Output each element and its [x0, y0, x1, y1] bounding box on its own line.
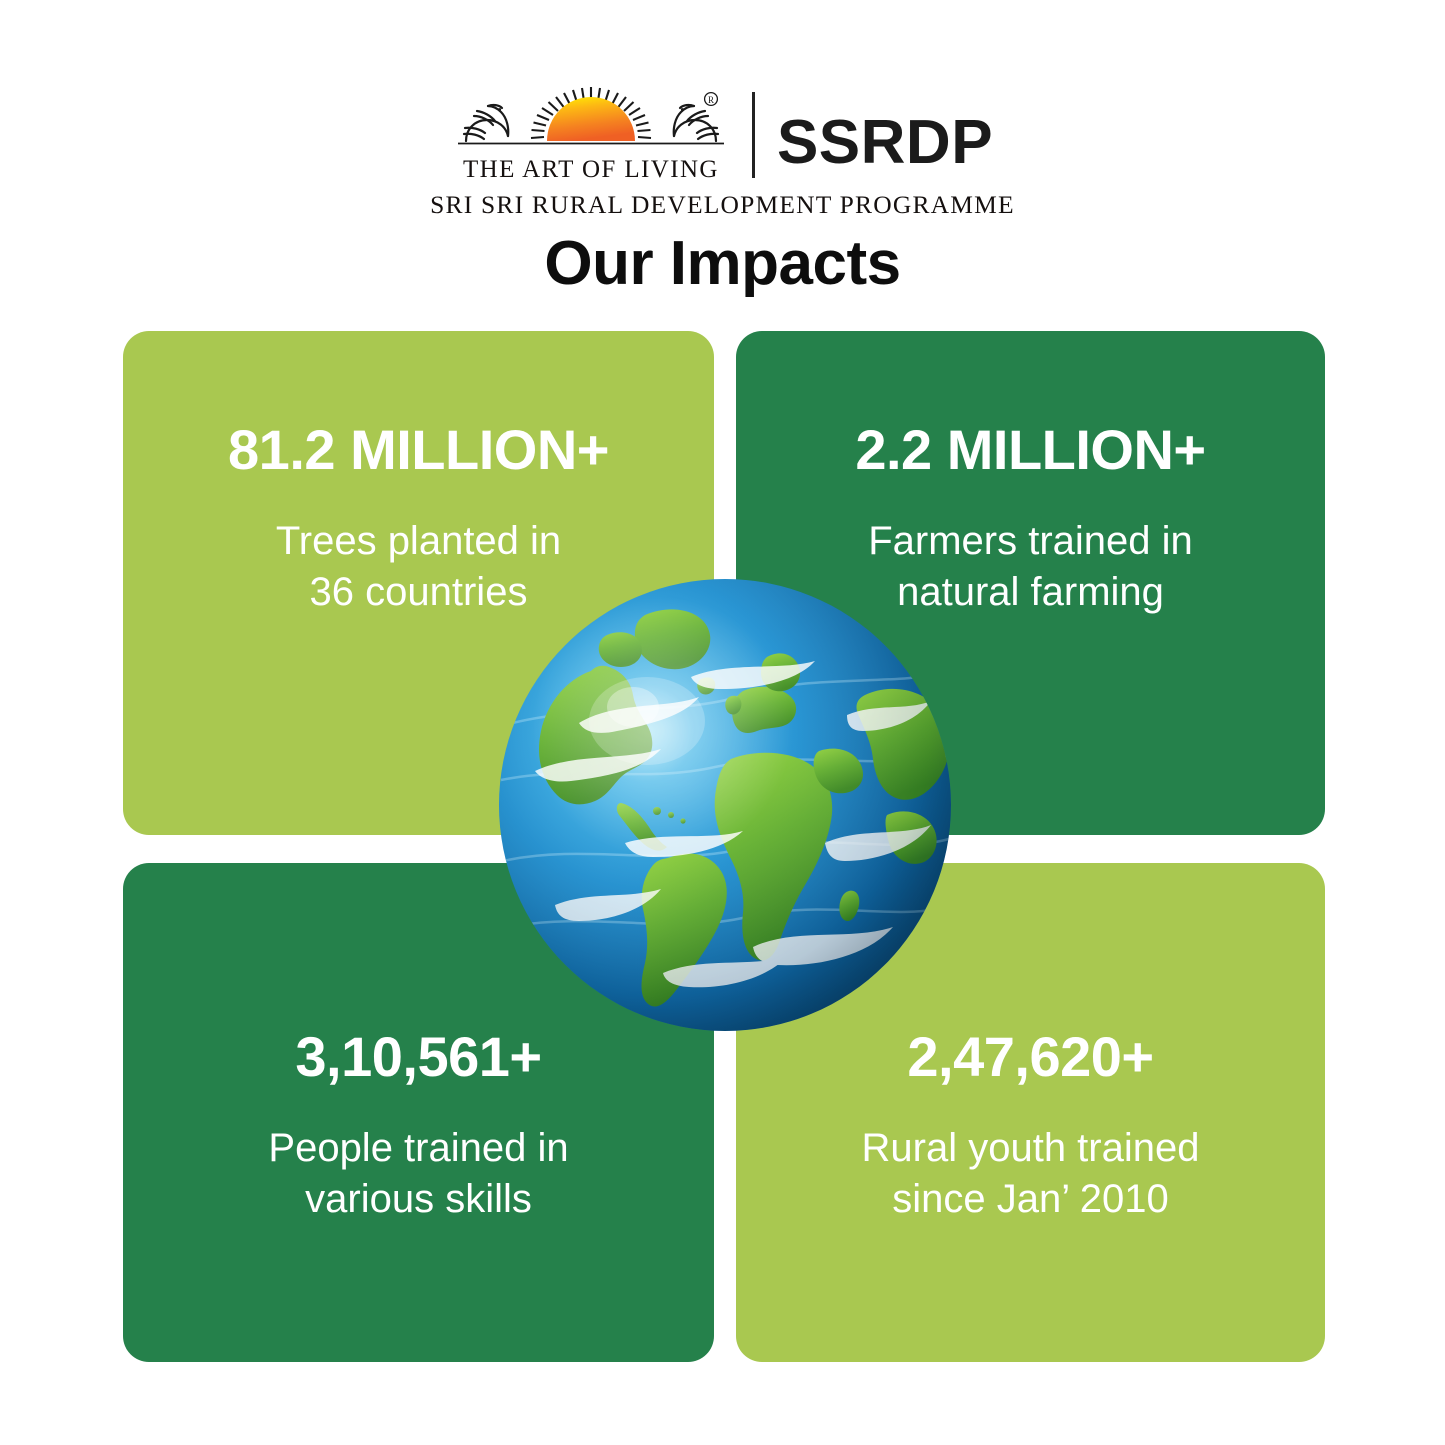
- stat-value: 2,47,620+: [907, 1028, 1153, 1087]
- earth-globe-graphic: [495, 575, 955, 1035]
- stat-label: People trained in various skills: [268, 1123, 568, 1225]
- stat-value: 81.2 MILLION+: [228, 421, 609, 480]
- stat-value: 3,10,561+: [295, 1028, 541, 1087]
- stat-label: Rural youth trained since Jan’ 2010: [862, 1123, 1200, 1225]
- infographic-canvas: R THE ART OF LIVING SSRDP SRI SRI RURAL …: [0, 0, 1445, 1445]
- stat-value: 2.2 MILLION+: [855, 421, 1205, 480]
